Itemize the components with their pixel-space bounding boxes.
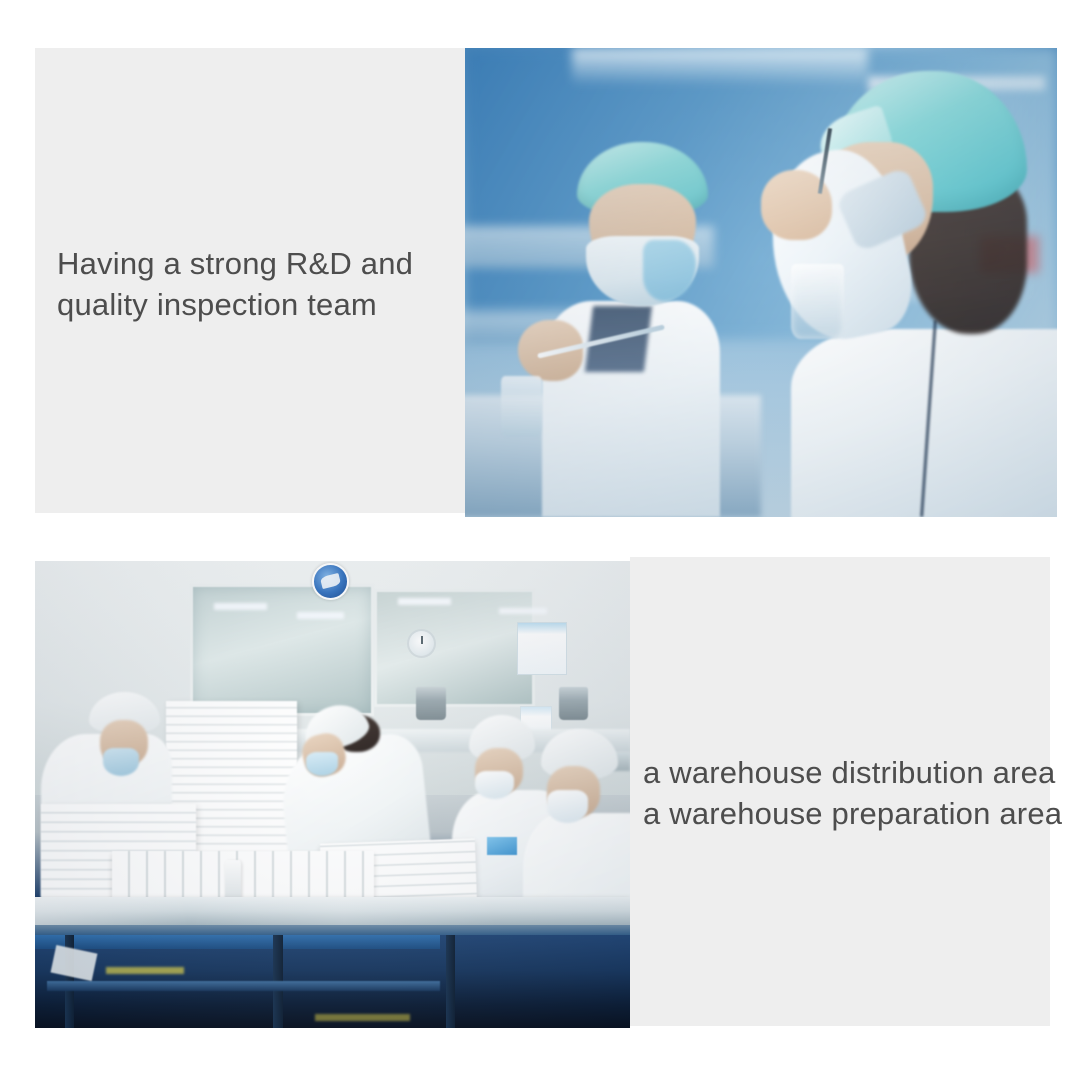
steel-table-top <box>35 897 630 927</box>
warehouse-caption-line-1: a warehouse distribution area <box>643 752 1062 793</box>
worker-3-face-mask <box>475 771 514 799</box>
ceiling-lamp-3 <box>398 598 452 605</box>
blue-card <box>487 837 517 856</box>
ceiling-lamp-2 <box>297 612 345 619</box>
table-lower-shelf <box>47 981 440 990</box>
wall-clock-icon <box>407 629 436 658</box>
worker-2-face-mask <box>306 752 339 775</box>
lab-ceiling-light <box>572 48 868 86</box>
floor-marking-tape-1 <box>106 967 183 974</box>
worker-1-face-mask <box>103 748 139 776</box>
steel-container-1 <box>416 687 446 720</box>
floor-marking-tape-2 <box>315 1014 410 1021</box>
warehouse-caption-line-2: a warehouse preparation area <box>643 793 1062 834</box>
rnd-caption: Having a strong R&D and quality inspecti… <box>57 243 413 325</box>
warehouse-packing-photo <box>35 561 630 1028</box>
rnd-caption-line-2: quality inspection team <box>57 284 413 325</box>
lab-small-beaker <box>501 376 542 437</box>
ceiling-lamp-4 <box>499 608 547 615</box>
worker-4-face-mask <box>547 790 589 823</box>
table-frame-beam <box>35 935 440 949</box>
lab-beaker <box>791 264 844 339</box>
ceiling-lamp-1 <box>214 603 268 610</box>
product-detail-image: Having a strong R&D and quality inspecti… <box>0 0 1080 1080</box>
table-leg-3 <box>446 935 456 1028</box>
white-bottle <box>225 860 240 902</box>
wall-notice-board <box>517 622 567 675</box>
rnd-lab-photo <box>465 48 1057 517</box>
warehouse-caption: a warehouse distribution area a warehous… <box>643 752 1062 834</box>
steel-container-2 <box>559 687 589 720</box>
rnd-caption-line-1: Having a strong R&D and <box>57 243 413 284</box>
blue-circular-sign-icon <box>312 563 349 600</box>
